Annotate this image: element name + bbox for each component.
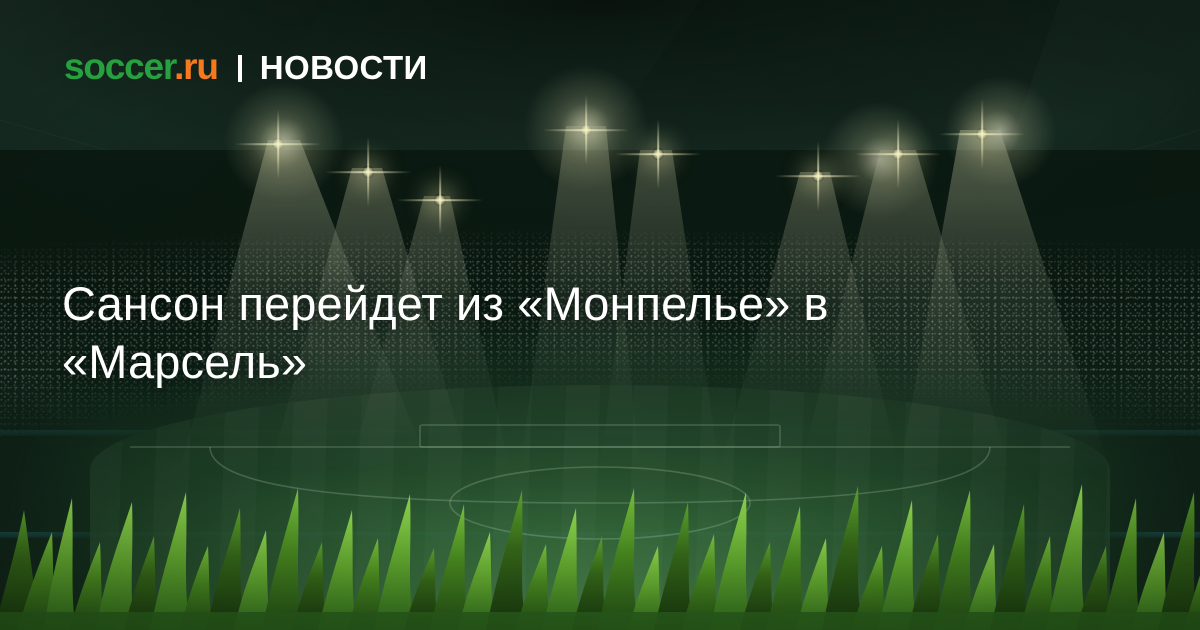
page-title: Сансон перейдет из «Монпелье» в «Марсель… — [62, 275, 1082, 391]
section-label: НОВОСТИ — [260, 51, 428, 84]
site-logo[interactable]: soccer.ru — [64, 48, 218, 85]
brand-divider — [238, 55, 242, 82]
card-content: soccer.ru НОВОСТИ Сансон перейдет из «Мо… — [0, 0, 1200, 630]
logo-text-suffix: .ru — [174, 46, 218, 87]
brand-bar: soccer.ru НОВОСТИ — [64, 48, 428, 85]
logo-text-primary: soccer — [64, 46, 174, 87]
news-card: soccer.ru НОВОСТИ Сансон перейдет из «Мо… — [0, 0, 1200, 630]
